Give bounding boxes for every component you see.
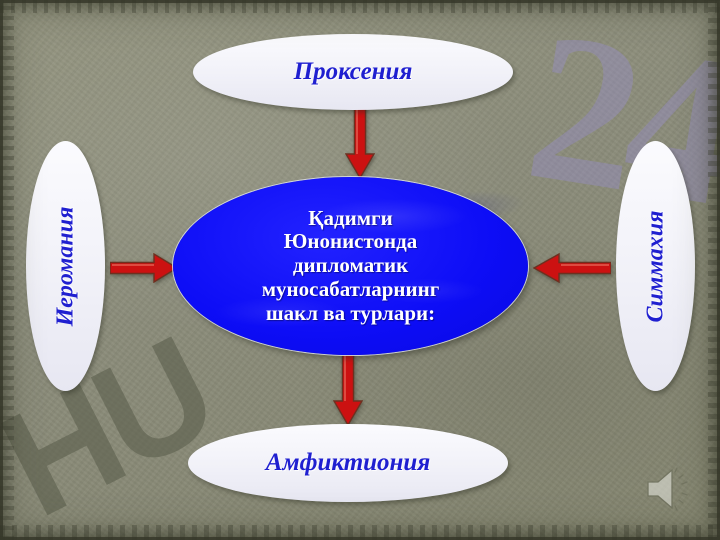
center-node-label: Қадимги Юнонистонда дипломатик муносабат…: [226, 207, 476, 326]
node-amfiktionia-label: Амфиктиония: [241, 450, 456, 476]
arrow-left-to-center: [110, 253, 178, 283]
node-simmahia-label: Симмахия: [643, 210, 668, 322]
arrow-top-to-center: [345, 104, 375, 180]
speaker-icon[interactable]: [634, 462, 700, 516]
presentation-slide: 24 HU Қадимги Юнонистонда дипломатик мун…: [0, 0, 720, 540]
center-node-diplomatic-relations[interactable]: Қадимги Юнонистонда дипломатик муносабат…: [173, 177, 528, 355]
node-proksenia[interactable]: Проксения: [193, 34, 513, 110]
node-simmahia[interactable]: Симмахия: [616, 141, 695, 391]
node-amfiktionia[interactable]: Амфиктиония: [188, 424, 508, 502]
arrow-right-to-center: [533, 253, 611, 283]
node-ieromania-label: Иеромания: [53, 206, 78, 326]
node-proksenia-label: Проксения: [294, 59, 413, 85]
node-ieromania[interactable]: Иеромания: [26, 141, 105, 391]
arrow-center-to-bottom: [333, 349, 363, 427]
